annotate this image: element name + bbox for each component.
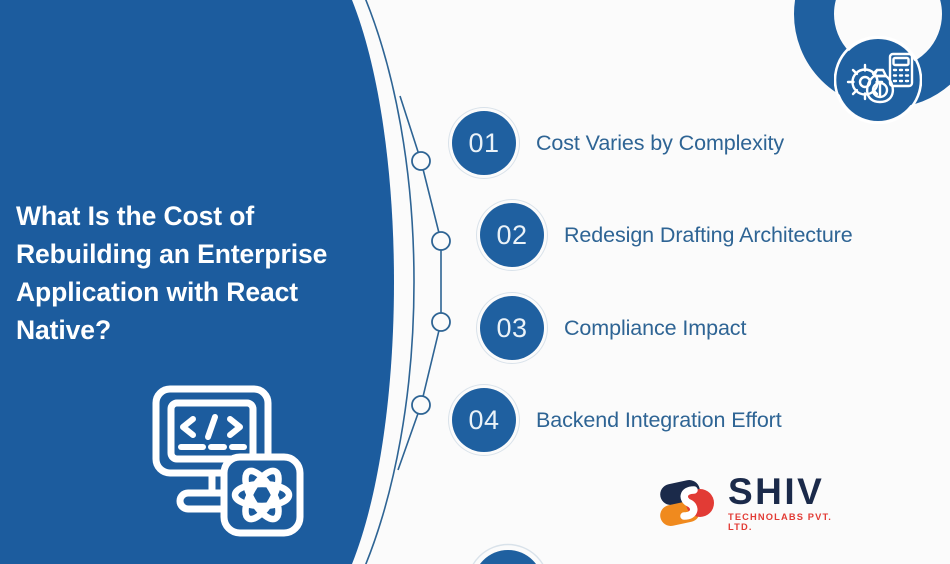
list-item-01[interactable]: 01 Cost Varies by Complexity xyxy=(452,111,784,175)
monitor-code-react-icon xyxy=(148,381,308,541)
badge-03: 03 xyxy=(480,296,544,360)
badge-number: 02 xyxy=(496,222,527,249)
badge-04: 04 xyxy=(452,388,516,452)
shiv-technolabs-logo: SHIV TECHNOLABS PVT. LTD. xyxy=(658,472,858,534)
badge-number: 01 xyxy=(468,130,499,157)
list-item-03[interactable]: 03 Compliance Impact xyxy=(480,296,746,360)
list-item-04[interactable]: 04 Backend Integration Effort xyxy=(452,388,782,452)
badge-01: 01 xyxy=(452,111,516,175)
code-chevrons-icon xyxy=(183,417,240,437)
list-item-label: Compliance Impact xyxy=(564,316,746,341)
shiv-logo-mark xyxy=(658,478,720,528)
list-item-label: Cost Varies by Complexity xyxy=(536,131,784,156)
logo-wordmark: SHIV TECHNOLABS PVT. LTD. xyxy=(728,474,858,532)
list-item-02[interactable]: 02 Redesign Drafting Architecture xyxy=(480,203,853,267)
list-item-label: Redesign Drafting Architecture xyxy=(564,223,853,248)
logo-word-shiv: SHIV xyxy=(728,474,824,509)
logo-tagline: TECHNOLABS PVT. LTD. xyxy=(728,512,858,532)
badge-number: 04 xyxy=(468,407,499,434)
calculator-icon xyxy=(890,54,912,86)
list-item-label: Backend Integration Effort xyxy=(536,408,782,433)
infographic-slide: What Is the Cost of Rebuilding an Enterp… xyxy=(0,0,950,564)
gear-moneybag-calculator-icon xyxy=(834,36,922,124)
badge-number: 03 xyxy=(496,315,527,342)
badge-02: 02 xyxy=(480,203,544,267)
